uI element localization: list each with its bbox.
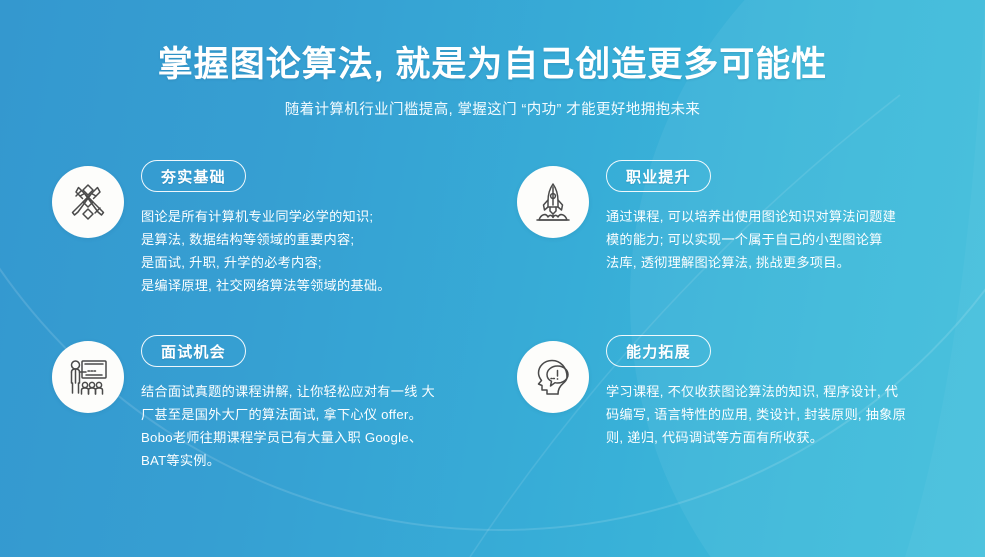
desc-line: 则, 递归, 代码调试等方面有所收获。 xyxy=(606,426,906,449)
feature-card-interview: 面试机会 结合面试真题的课程讲解, 让你轻松应对有一线 大 厂甚至是国外大厂的算… xyxy=(52,335,512,510)
feature-description: 结合面试真题的课程讲解, 让你轻松应对有一线 大 厂甚至是国外大厂的算法面试, … xyxy=(141,380,435,472)
desc-line: 是编译原理, 社交网络算法等领域的基础。 xyxy=(141,274,391,297)
slide-root: 掌握图论算法, 就是为自己创造更多可能性 随着计算机行业门槛提高, 掌握这门 “… xyxy=(0,0,985,557)
presentation-classroom-icon xyxy=(52,341,124,413)
desc-line: 学习课程, 不仅收获图论算法的知识, 程序设计, 代 xyxy=(606,380,906,403)
desc-line: BAT等实例。 xyxy=(141,449,435,472)
feature-description: 学习课程, 不仅收获图论算法的知识, 程序设计, 代 码编写, 语言特性的应用,… xyxy=(606,380,906,449)
rocket-launch-icon xyxy=(517,166,589,238)
feature-description: 通过课程, 可以培养出使用图论知识对算法问题建 模的能力; 可以实现一个属于自己… xyxy=(606,205,896,274)
crossed-pencils-icon xyxy=(52,166,124,238)
desc-line: 厂甚至是国外大厂的算法面试, 拿下心仪 offer。 xyxy=(141,403,435,426)
feature-body: 职业提升 通过课程, 可以培养出使用图论知识对算法问题建 模的能力; 可以实现一… xyxy=(606,160,896,274)
feature-body: 能力拓展 学习课程, 不仅收获图论算法的知识, 程序设计, 代 码编写, 语言特… xyxy=(606,335,906,449)
feature-pill-interview[interactable]: 面试机会 xyxy=(141,335,246,367)
feature-card-ability: 能力拓展 学习课程, 不仅收获图论算法的知识, 程序设计, 代 码编写, 语言特… xyxy=(517,335,977,510)
feature-grid: 夯实基础 图论是所有计算机专业同学必学的知识; 是算法, 数据结构等领域的重要内… xyxy=(0,160,985,520)
feature-pill-ability[interactable]: 能力拓展 xyxy=(606,335,711,367)
desc-line: 码编写, 语言特性的应用, 类设计, 封装原则, 抽象原 xyxy=(606,403,906,426)
page-subtitle: 随着计算机行业门槛提高, 掌握这门 “内功” 才能更好地拥抱未来 xyxy=(0,98,985,119)
feature-card-career: 职业提升 通过课程, 可以培养出使用图论知识对算法问题建 模的能力; 可以实现一… xyxy=(517,160,977,335)
feature-pill-career[interactable]: 职业提升 xyxy=(606,160,711,192)
desc-line: 是面试, 升职, 升学的必考内容; xyxy=(141,251,391,274)
desc-line: 通过课程, 可以培养出使用图论知识对算法问题建 xyxy=(606,205,896,228)
desc-line: 是算法, 数据结构等领域的重要内容; xyxy=(141,228,391,251)
desc-line: Bobo老师往期课程学员已有大量入职 Google、 xyxy=(141,426,435,449)
desc-line: 模的能力; 可以实现一个属于自己的小型图论算 xyxy=(606,228,896,251)
page-title: 掌握图论算法, 就是为自己创造更多可能性 xyxy=(0,44,985,85)
header: 掌握图论算法, 就是为自己创造更多可能性 随着计算机行业门槛提高, 掌握这门 “… xyxy=(0,44,985,119)
desc-line: 结合面试真题的课程讲解, 让你轻松应对有一线 大 xyxy=(141,380,435,403)
desc-line: 法库, 透彻理解图论算法, 挑战更多项目。 xyxy=(606,251,896,274)
feature-pill-foundation[interactable]: 夯实基础 xyxy=(141,160,246,192)
feature-description: 图论是所有计算机专业同学必学的知识; 是算法, 数据结构等领域的重要内容; 是面… xyxy=(141,205,391,297)
desc-line: 图论是所有计算机专业同学必学的知识; xyxy=(141,205,391,228)
feature-body: 夯实基础 图论是所有计算机专业同学必学的知识; 是算法, 数据结构等领域的重要内… xyxy=(141,160,391,297)
feature-card-foundation: 夯实基础 图论是所有计算机专业同学必学的知识; 是算法, 数据结构等领域的重要内… xyxy=(52,160,512,335)
feature-body: 面试机会 结合面试真题的课程讲解, 让你轻松应对有一线 大 厂甚至是国外大厂的算… xyxy=(141,335,435,472)
head-idea-icon xyxy=(517,341,589,413)
